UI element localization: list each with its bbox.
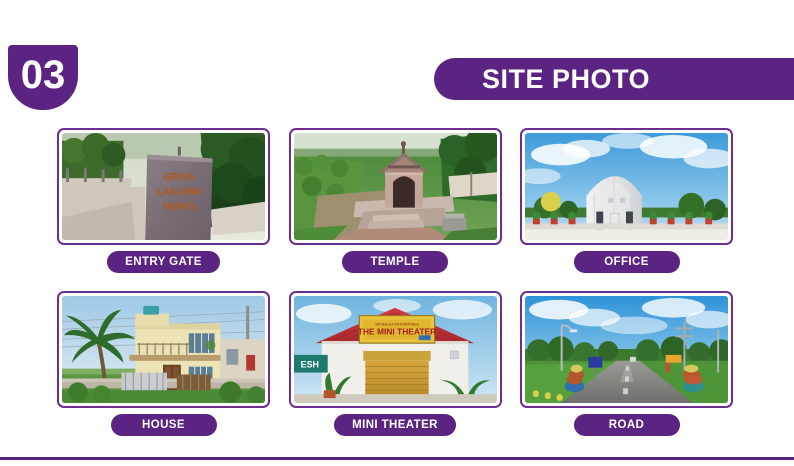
title-banner: SITE PHOTO <box>434 58 794 100</box>
section-number-badge: 03 <box>8 45 78 110</box>
svg-text:ESH: ESH <box>300 360 318 370</box>
photo-label-entry-gate: ENTRY GATE <box>107 251 220 273</box>
svg-text:LAKSHMI: LAKSHMI <box>156 187 201 198</box>
photo-frame <box>520 128 733 245</box>
photo-frame: GRIHA LAKSHMI NIWAS <box>57 128 270 245</box>
temple-photo <box>294 133 497 240</box>
photo-cell-house[interactable]: HOUSE <box>57 291 270 436</box>
section-number-text: 03 <box>21 55 66 95</box>
office-photo <box>525 133 728 240</box>
photo-grid: GRIHA LAKSHMI NIWAS ENTRY GATE <box>57 128 733 436</box>
photo-frame: SRI BALAJI ENTERPRISES THE MINI THEATER <box>289 291 502 408</box>
photo-label-house: HOUSE <box>111 414 217 436</box>
photo-label-temple: TEMPLE <box>342 251 448 273</box>
photo-cell-temple[interactable]: TEMPLE <box>289 128 502 273</box>
photo-frame <box>57 291 270 408</box>
photo-frame <box>289 128 502 245</box>
svg-text:NIWAS: NIWAS <box>163 202 196 213</box>
slide-root: 03 SITE PHOTO <box>0 0 794 466</box>
svg-text:GRIHA: GRIHA <box>163 172 195 183</box>
footer-divider <box>0 457 794 460</box>
photo-cell-road[interactable]: ROAD <box>520 291 733 436</box>
entry-gate-photo: GRIHA LAKSHMI NIWAS <box>62 133 265 240</box>
page-title: SITE PHOTO <box>482 64 650 95</box>
svg-text:THE MINI THEATER: THE MINI THEATER <box>357 326 435 336</box>
photo-row-top: GRIHA LAKSHMI NIWAS ENTRY GATE <box>57 128 733 273</box>
photo-label-road: ROAD <box>574 414 680 436</box>
photo-label-office: OFFICE <box>574 251 680 273</box>
photo-row-bottom: HOUSE <box>57 291 733 436</box>
photo-cell-office[interactable]: OFFICE <box>520 128 733 273</box>
photo-cell-mini-theater[interactable]: SRI BALAJI ENTERPRISES THE MINI THEATER <box>289 291 502 436</box>
house-photo <box>62 296 265 403</box>
mini-theater-photo: SRI BALAJI ENTERPRISES THE MINI THEATER <box>294 296 497 403</box>
road-photo <box>525 296 728 403</box>
photo-frame <box>520 291 733 408</box>
photo-label-mini-theater: MINI THEATER <box>334 414 456 436</box>
photo-cell-entry-gate[interactable]: GRIHA LAKSHMI NIWAS ENTRY GATE <box>57 128 270 273</box>
